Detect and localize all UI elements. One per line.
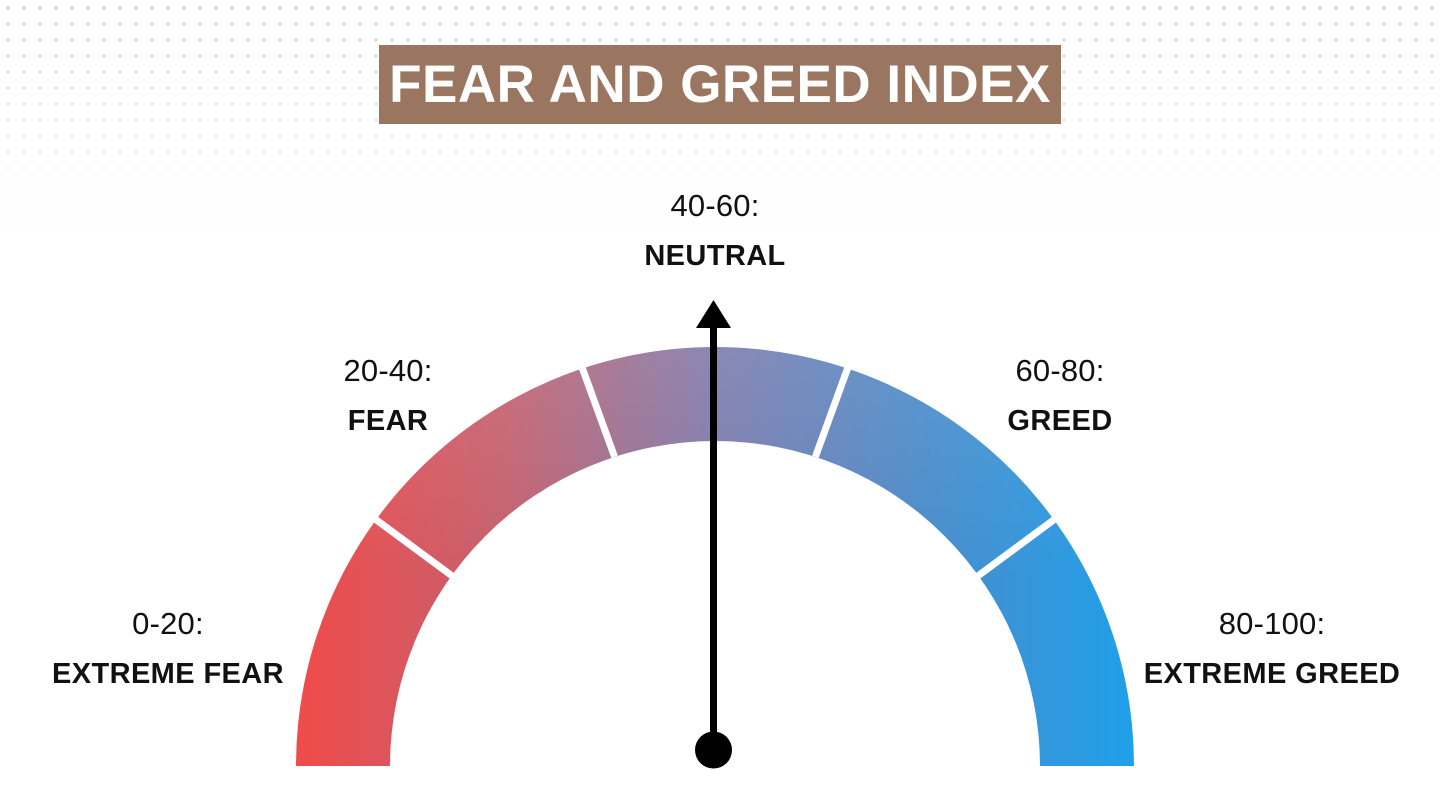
gauge-label-extreme-fear-name: EXTREME FEAR (18, 656, 318, 693)
gauge-label-extreme-greed-name: EXTREME GREED (1122, 656, 1422, 693)
gauge-divider-20 (376, 520, 452, 576)
gauge-divider-60 (815, 367, 848, 457)
needle-arrow-icon (696, 300, 731, 328)
gauge-label-fear-name: FEAR (258, 403, 518, 440)
gauge-label-neutral-range: 40-60: (585, 186, 845, 226)
gauge-label-fear-range: 20-40: (258, 351, 518, 391)
gauge-label-greed-range: 60-80: (930, 351, 1190, 391)
gauge-label-extreme-greed-range: 80-100: (1122, 604, 1422, 644)
page-title: FEAR AND GREED INDEX (389, 58, 1051, 111)
gauge-divider-80 (978, 520, 1054, 576)
title-banner: FEAR AND GREED INDEX (379, 45, 1061, 124)
gauge-label-extreme-fear-range: 0-20: (18, 604, 318, 644)
gauge-label-extreme-greed: 80-100: EXTREME GREED (1122, 604, 1422, 693)
gauge-label-fear: 20-40: FEAR (258, 351, 518, 440)
gauge-divider-40 (582, 367, 615, 457)
gauge-label-extreme-fear: 0-20: EXTREME FEAR (18, 604, 318, 693)
gauge-needle (695, 300, 732, 769)
gauge-label-neutral: 40-60: NEUTRAL (585, 186, 845, 275)
gauge-label-neutral-name: NEUTRAL (585, 238, 845, 275)
needle-pivot (695, 732, 732, 769)
gauge-label-greed: 60-80: GREED (930, 351, 1190, 440)
gauge-label-greed-name: GREED (930, 403, 1190, 440)
